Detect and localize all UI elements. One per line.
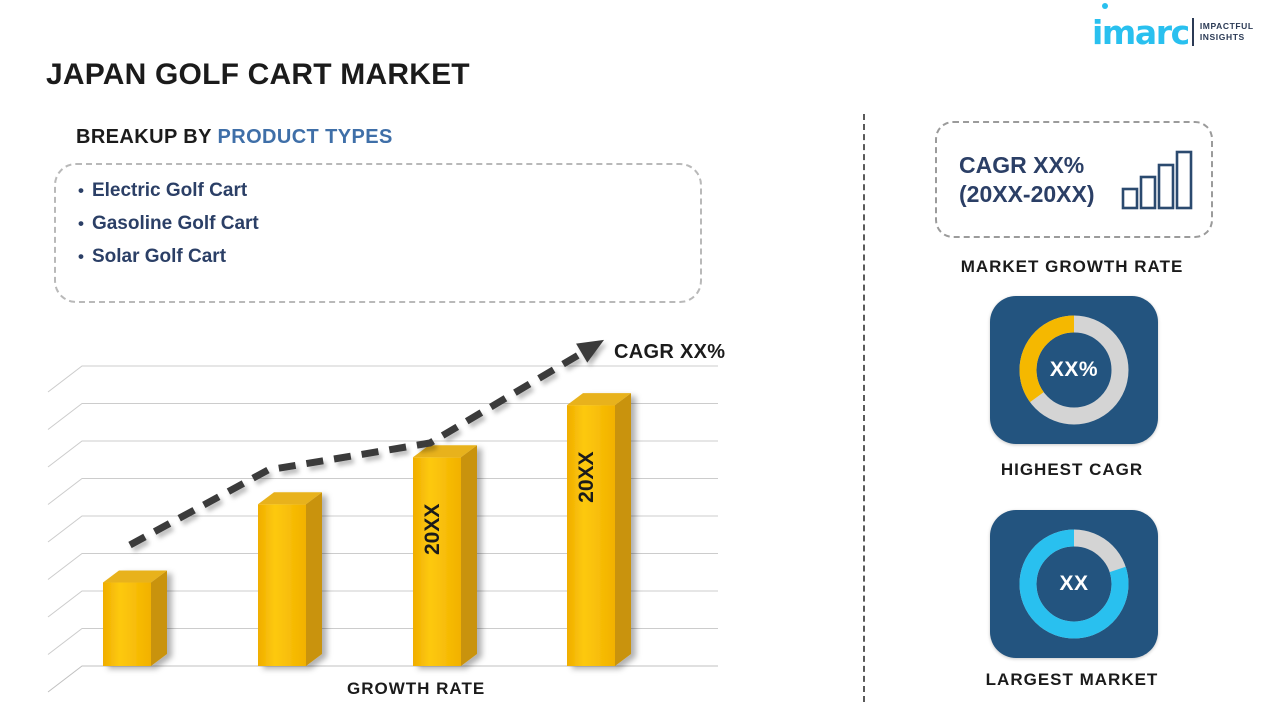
logo-tagline-line1: IMPACTFUL	[1200, 21, 1254, 32]
cagr-line-2: (20XX-20XX)	[959, 180, 1095, 208]
chart-x-axis-label: GROWTH RATE	[347, 679, 485, 699]
growth-rate-chart: 20XX20XX	[46, 330, 766, 700]
vertical-divider	[863, 114, 865, 702]
logo-wordmark: imarc	[1092, 16, 1189, 49]
ascending-bar-chart-icon	[1121, 149, 1195, 211]
logo-dot-icon	[1102, 3, 1108, 9]
subtitle-accent: PRODUCT TYPES	[217, 126, 392, 148]
bar-value-label: 20XX	[421, 504, 444, 555]
highest-cagr-caption: HIGHEST CAGR	[864, 460, 1280, 480]
list-item: • Electric Golf Cart	[78, 181, 700, 200]
bullet-dot-icon: •	[78, 182, 84, 199]
trend-line	[130, 340, 604, 545]
bullet-dot-icon: •	[78, 215, 84, 232]
bar-value-label: 20XX	[575, 451, 598, 502]
donut-center-label: XX	[1059, 572, 1088, 596]
imarc-logo: imarc IMPACTFUL INSIGHTS	[1092, 12, 1264, 52]
chart-cagr-label: CAGR XX%	[614, 341, 725, 364]
chart-bar	[567, 393, 631, 666]
logo-divider	[1192, 18, 1194, 46]
highest-cagr-tile: XX%	[990, 296, 1158, 444]
chart-svg: 20XX20XX	[46, 330, 766, 700]
largest-market-caption: LARGEST MARKET	[864, 670, 1280, 690]
logo-tagline: IMPACTFUL INSIGHTS	[1200, 21, 1254, 44]
subtitle-prefix: BREAKUP BY	[76, 126, 212, 148]
largest-market-tile: XX	[990, 510, 1158, 658]
page-title: JAPAN GOLF CART MARKET	[46, 58, 470, 92]
chart-bar	[103, 571, 167, 666]
market-growth-rate-caption: MARKET GROWTH RATE	[864, 257, 1280, 277]
logo-tagline-line2: INSIGHTS	[1200, 32, 1254, 43]
infographic-page: imarc IMPACTFUL INSIGHTS JAPAN GOLF CART…	[0, 0, 1280, 720]
list-item: • Solar Golf Cart	[78, 247, 700, 266]
chart-bar	[258, 492, 322, 666]
cagr-summary-box: CAGR XX% (20XX-20XX)	[935, 121, 1213, 238]
section-subtitle: BREAKUP BY PRODUCT TYPES	[76, 126, 393, 149]
cagr-line-1: CAGR XX%	[959, 151, 1095, 179]
product-types-box: • Electric Golf Cart • Gasoline Golf Car…	[54, 163, 702, 303]
cagr-summary-text: CAGR XX% (20XX-20XX)	[959, 151, 1095, 207]
list-item-label: Electric Golf Cart	[92, 181, 247, 200]
list-item: • Gasoline Golf Cart	[78, 214, 700, 233]
list-item-label: Solar Golf Cart	[92, 247, 226, 266]
chart-bars	[103, 393, 631, 666]
list-item-label: Gasoline Golf Cart	[92, 214, 259, 233]
bullet-dot-icon: •	[78, 248, 84, 265]
donut-center-label: XX%	[1050, 358, 1098, 382]
